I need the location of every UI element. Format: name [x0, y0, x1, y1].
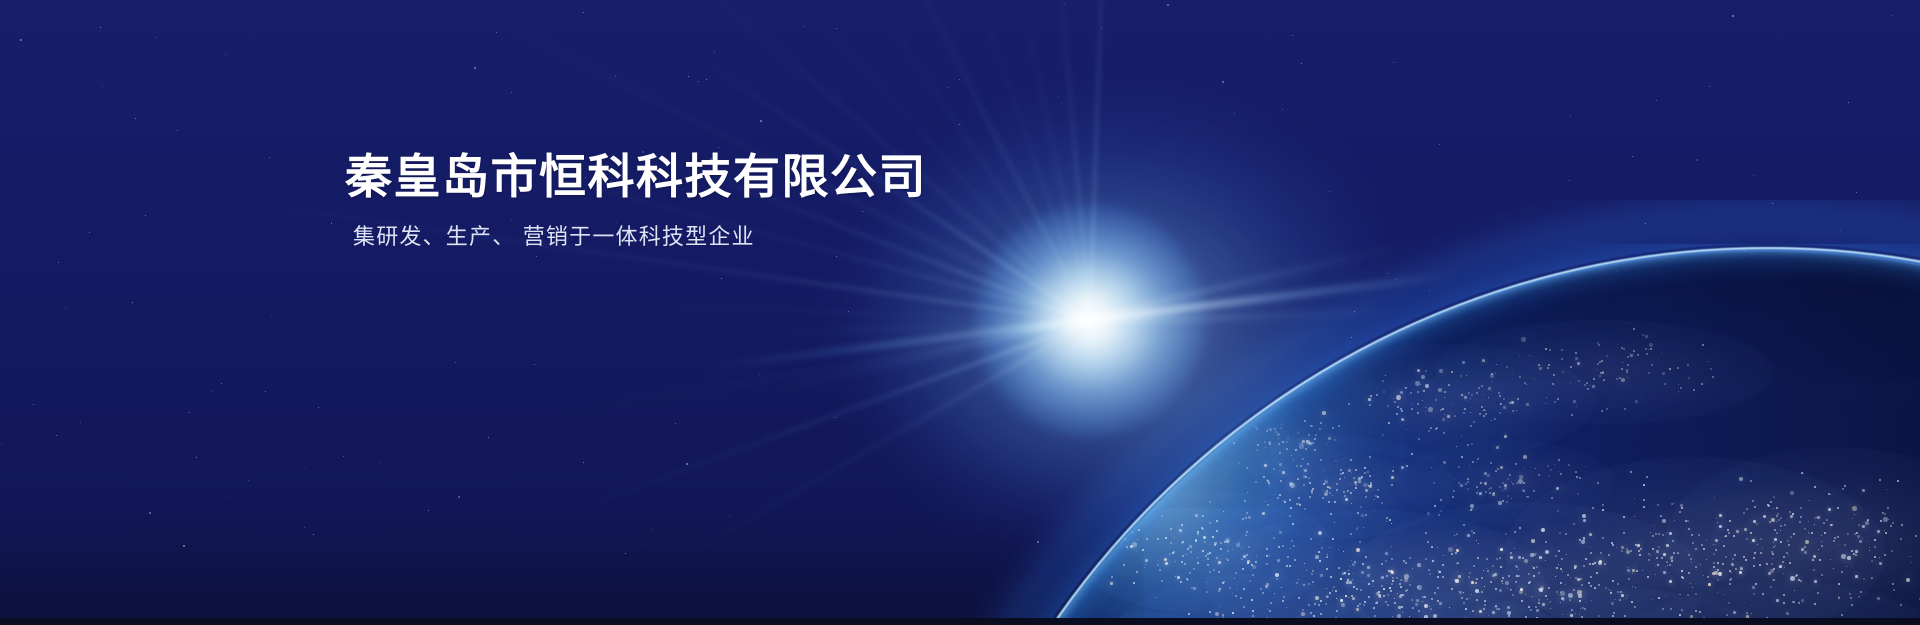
star — [1732, 15, 1734, 17]
star — [534, 364, 535, 365]
star — [265, 391, 266, 392]
star — [225, 54, 226, 55]
star — [836, 256, 837, 257]
star — [102, 86, 103, 87]
star — [343, 456, 344, 457]
star — [1387, 273, 1388, 274]
star — [248, 480, 249, 481]
star — [706, 79, 707, 80]
star — [1696, 159, 1698, 161]
banner-text-block: 秦皇岛市恒科科技有限公司 集研发、生产、 营销于一体科技型企业 — [345, 148, 927, 252]
star — [455, 362, 456, 363]
star — [1234, 113, 1235, 114]
star — [721, 278, 722, 279]
star — [305, 468, 306, 469]
star — [1892, 15, 1893, 16]
star — [1753, 175, 1754, 176]
star — [583, 12, 584, 13]
star — [226, 497, 227, 498]
star — [1058, 96, 1059, 97]
star — [313, 534, 314, 535]
star — [1037, 541, 1039, 543]
star — [688, 76, 689, 77]
star — [488, 437, 489, 438]
star — [196, 457, 197, 458]
star — [714, 51, 715, 52]
star — [1282, 109, 1283, 110]
star — [1569, 180, 1570, 181]
hero-banner: 秦皇岛市恒科科技有限公司 集研发、生产、 营销于一体科技型企业 — [0, 0, 1920, 625]
star — [189, 412, 190, 413]
star — [1709, 86, 1710, 87]
star — [100, 27, 101, 28]
star — [271, 316, 272, 317]
star — [155, 37, 156, 38]
star — [759, 374, 760, 375]
star — [458, 496, 460, 498]
star — [56, 435, 57, 436]
star — [1222, 81, 1224, 83]
company-tagline: 集研发、生产、 营销于一体科技型企业 — [353, 222, 927, 252]
star — [1570, 115, 1571, 116]
star — [80, 422, 81, 423]
bottom-edge-strip — [0, 618, 1920, 625]
star — [1, 443, 2, 444]
star — [20, 39, 22, 41]
star — [947, 87, 948, 88]
star — [474, 67, 476, 69]
star — [33, 404, 34, 405]
star — [959, 79, 960, 80]
star — [269, 157, 270, 158]
star — [1167, 4, 1169, 6]
star — [645, 546, 646, 547]
star — [132, 302, 133, 303]
star — [496, 32, 497, 33]
star — [149, 512, 151, 514]
star — [221, 383, 222, 384]
star — [177, 130, 178, 131]
star — [729, 515, 730, 516]
star — [698, 81, 699, 82]
star — [1292, 35, 1293, 36]
earth-from-space-night-graphic — [0, 0, 1920, 625]
star — [1064, 3, 1065, 4]
star — [211, 391, 212, 392]
star — [1632, 156, 1633, 157]
star — [58, 262, 59, 263]
star — [1656, 100, 1657, 101]
star — [1439, 144, 1440, 145]
star — [331, 223, 332, 224]
star — [322, 267, 323, 268]
star — [318, 407, 319, 408]
star — [89, 232, 90, 233]
star — [675, 423, 676, 424]
star — [803, 26, 804, 27]
star — [625, 553, 626, 554]
company-name-headline: 秦皇岛市恒科科技有限公司 — [345, 148, 927, 206]
star — [536, 256, 537, 257]
star — [65, 307, 66, 308]
star — [135, 118, 136, 119]
star — [145, 215, 146, 216]
star — [836, 28, 837, 29]
star — [1393, 62, 1394, 63]
star — [835, 417, 836, 418]
star — [1848, 102, 1849, 103]
star — [183, 545, 185, 547]
star — [1856, 192, 1857, 193]
star — [1301, 63, 1302, 64]
star — [511, 92, 512, 93]
star — [760, 120, 762, 122]
star — [1329, 191, 1330, 192]
star — [304, 527, 305, 528]
star — [651, 529, 652, 530]
star — [379, 462, 380, 463]
star — [583, 462, 584, 463]
star — [428, 510, 429, 511]
